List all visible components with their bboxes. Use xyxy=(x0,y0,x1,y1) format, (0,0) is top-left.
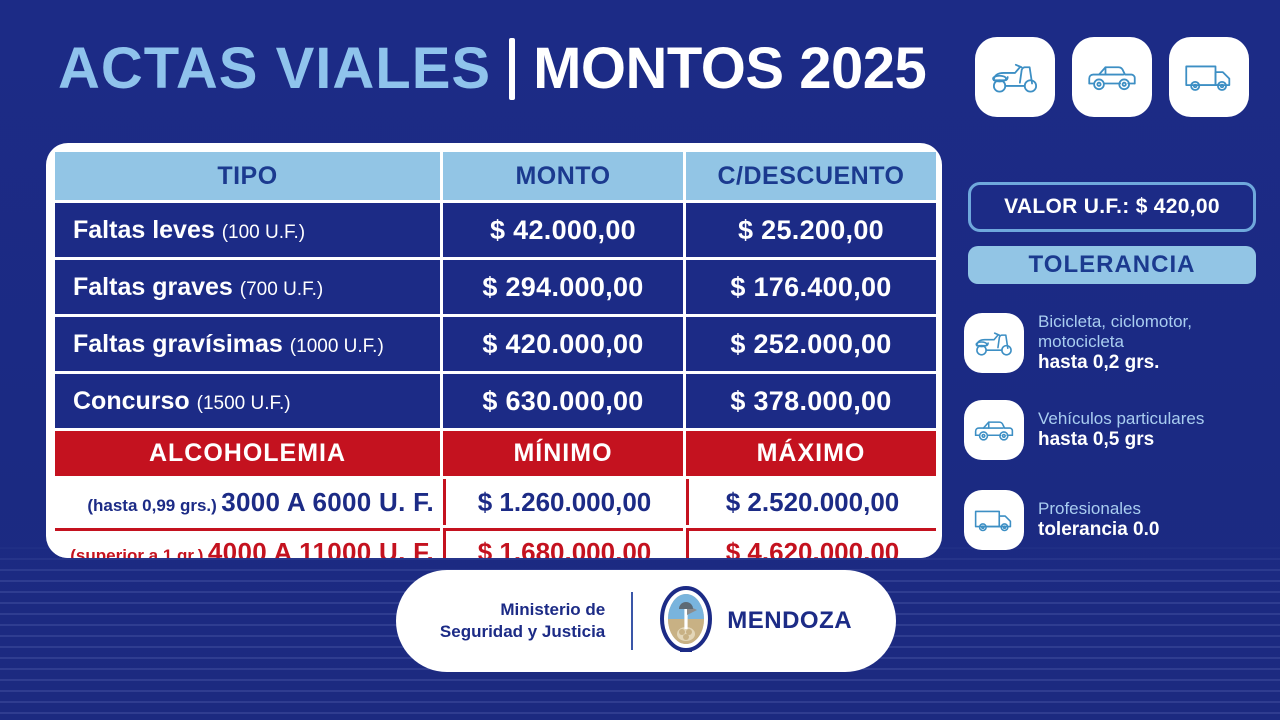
alcohol-row: (superior a 1 gr.) 4000 A 11000 U. F. $ … xyxy=(55,528,936,558)
truck-icon xyxy=(1169,37,1249,117)
column-header-tipo: TIPO xyxy=(55,152,440,200)
province-name: MENDOZA xyxy=(727,607,852,635)
tolerance-text: Vehículos particulares hasta 0,5 grs xyxy=(1038,409,1204,451)
column-header-maximo: MÁXIMO xyxy=(686,431,936,476)
footer-logo-bar: Ministerio de Seguridad y Justicia MENDO… xyxy=(396,570,896,672)
row-label-cell: Concurso (1500 U.F.) xyxy=(55,374,440,428)
alcohol-uf-text: 4000 A 11000 U. F. xyxy=(208,537,434,558)
header-vehicle-icons xyxy=(975,37,1249,117)
alcohol-row: (hasta 0,99 grs.) 3000 A 6000 U. F. $ 1.… xyxy=(55,479,936,525)
table-row: Faltas leves (100 U.F.) $ 42.000,00 $ 25… xyxy=(55,203,936,257)
alcohol-minimo-cell: $ 1.260.000,00 xyxy=(443,479,683,525)
table-row: Faltas gravísimas (1000 U.F.) $ 420.000,… xyxy=(55,317,936,371)
row-descuento-cell: $ 378.000,00 xyxy=(686,374,936,428)
alcohol-uf-text: 3000 A 6000 U. F. xyxy=(221,487,434,517)
row-label-text: Faltas gravísimas xyxy=(73,330,283,358)
car-icon xyxy=(1072,37,1152,117)
tolerance-value: hasta 0,2 grs. xyxy=(1038,352,1264,374)
row-label-cell: Faltas graves (700 U.F.) xyxy=(55,260,440,314)
alcohol-range-text: (hasta 0,99 grs.) xyxy=(87,496,216,515)
row-uf-text: (1000 U.F.) xyxy=(290,336,384,357)
ministry-line-1: Ministerio de xyxy=(440,599,605,621)
tolerance-text: Profesionales tolerancia 0.0 xyxy=(1038,499,1159,541)
title-actas-viales: ACTAS VIALES xyxy=(58,40,491,98)
alcohol-minimo-cell: $ 1.680.000,00 xyxy=(443,528,683,558)
tolerance-category: Profesionales xyxy=(1038,499,1159,519)
row-label-cell: Faltas leves (100 U.F.) xyxy=(55,203,440,257)
scooter-icon xyxy=(975,37,1055,117)
car-icon xyxy=(964,400,1024,460)
alcohol-range-cell: (hasta 0,99 grs.) 3000 A 6000 U. F. xyxy=(55,479,440,525)
row-label-cell: Faltas gravísimas (1000 U.F.) xyxy=(55,317,440,371)
column-header-alcoholemia: ALCOHOLEMIA xyxy=(55,431,440,476)
row-uf-text: (100 U.F.) xyxy=(222,222,305,243)
header: ACTAS VIALES MONTOS 2025 xyxy=(0,0,1280,140)
row-monto-cell: $ 630.000,00 xyxy=(443,374,683,428)
row-uf-text: (1500 U.F.) xyxy=(197,393,291,414)
alcohol-range-text: (superior a 1 gr.) xyxy=(70,546,203,558)
table-header-row: TIPO MONTO C/DESCUENTO xyxy=(55,152,936,200)
ministry-name: Ministerio de Seguridad y Justicia xyxy=(440,599,605,643)
row-monto-cell: $ 42.000,00 xyxy=(443,203,683,257)
alcohol-header-row: ALCOHOLEMIA MÍNIMO MÁXIMO xyxy=(55,431,936,476)
scooter-icon xyxy=(964,313,1024,373)
tolerance-value: hasta 0,5 grs xyxy=(1038,429,1204,451)
alcohol-range-cell: (superior a 1 gr.) 4000 A 11000 U. F. xyxy=(55,528,440,558)
tolerance-item-motos: Bicicleta, ciclomotor, motocicleta hasta… xyxy=(964,312,1264,375)
row-monto-cell: $ 294.000,00 xyxy=(443,260,683,314)
alcohol-maximo-cell: $ 2.520.000,00 xyxy=(686,479,936,525)
ministry-line-2: Seguridad y Justicia xyxy=(440,621,605,643)
tolerance-item-autos: Vehículos particulares hasta 0,5 grs xyxy=(964,400,1264,460)
alcohol-maximo-cell: $ 4.620.000,00 xyxy=(686,528,936,558)
column-header-minimo: MÍNIMO xyxy=(443,431,683,476)
tolerance-item-profesionales: Profesionales tolerancia 0.0 xyxy=(964,490,1264,550)
row-descuento-cell: $ 25.200,00 xyxy=(686,203,936,257)
title-montos-2025: MONTOS 2025 xyxy=(533,40,926,98)
row-label-text: Faltas graves xyxy=(73,273,233,301)
page-title: ACTAS VIALES MONTOS 2025 xyxy=(58,38,926,100)
tolerance-category: Bicicleta, ciclomotor, motocicleta xyxy=(1038,312,1264,352)
row-descuento-cell: $ 176.400,00 xyxy=(686,260,936,314)
truck-icon xyxy=(964,490,1024,550)
amounts-table-card: TIPO MONTO C/DESCUENTO Faltas leves (100… xyxy=(46,143,942,558)
row-descuento-cell: $ 252.000,00 xyxy=(686,317,936,371)
mendoza-crest-icon xyxy=(659,585,713,657)
tolerance-category: Vehículos particulares xyxy=(1038,409,1204,429)
valor-uf-badge: VALOR U.F.: $ 420,00 xyxy=(968,182,1256,232)
row-label-text: Faltas leves xyxy=(73,216,215,244)
row-label-text: Concurso xyxy=(73,387,197,415)
footer-divider xyxy=(631,592,633,650)
column-header-descuento: C/DESCUENTO xyxy=(686,152,936,200)
title-divider xyxy=(509,38,515,100)
tolerancia-title: TOLERANCIA xyxy=(968,246,1256,284)
table-row: Concurso (1500 U.F.) $ 630.000,00 $ 378.… xyxy=(55,374,936,428)
tolerance-value: tolerancia 0.0 xyxy=(1038,519,1159,541)
row-uf-text: (700 U.F.) xyxy=(240,279,323,300)
column-header-monto: MONTO xyxy=(443,152,683,200)
tolerance-text: Bicicleta, ciclomotor, motocicleta hasta… xyxy=(1038,312,1264,375)
row-monto-cell: $ 420.000,00 xyxy=(443,317,683,371)
table-row: Faltas graves (700 U.F.) $ 294.000,00 $ … xyxy=(55,260,936,314)
amounts-table: TIPO MONTO C/DESCUENTO Faltas leves (100… xyxy=(52,149,939,558)
